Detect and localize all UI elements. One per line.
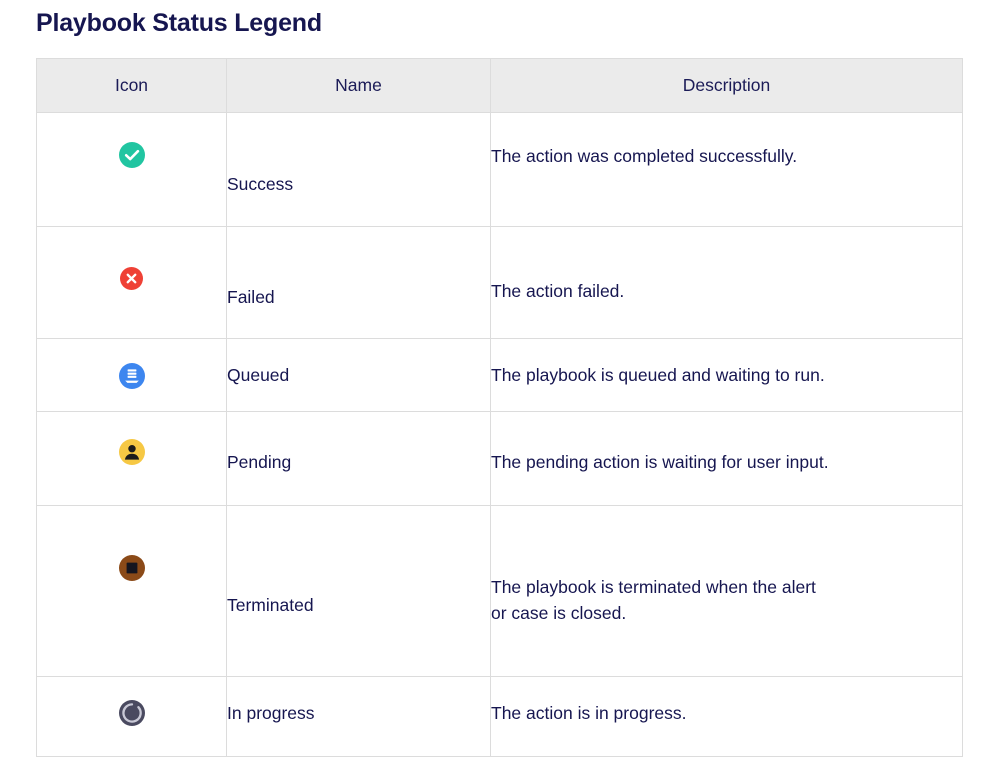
status-icon-cell: [37, 227, 227, 339]
status-icon-cell: [37, 677, 227, 757]
status-description: The action failed.: [491, 227, 963, 339]
status-name: Pending: [227, 412, 491, 506]
table-row: Queued The playbook is queued and waitin…: [37, 339, 963, 412]
terminated-stop-icon: [119, 555, 145, 581]
status-description: The action was completed successfully.: [491, 113, 963, 227]
status-icon-cell: [37, 113, 227, 227]
status-description-line-2: or case is closed.: [491, 600, 962, 626]
success-check-icon: [119, 142, 145, 168]
status-name: Failed: [227, 227, 491, 339]
playbook-status-legend-page: Playbook Status Legend Icon Name Descrip…: [0, 0, 1004, 656]
status-name: Success: [227, 113, 491, 227]
column-header-name: Name: [227, 59, 491, 113]
table-row: Success The action was completed success…: [37, 113, 963, 227]
table-body: Success The action was completed success…: [37, 113, 963, 757]
failed-cross-icon: [120, 267, 143, 290]
table-row: Failed The action failed.: [37, 227, 963, 339]
status-description: The action is in progress.: [491, 677, 963, 757]
column-header-description: Description: [491, 59, 963, 113]
table-header: Icon Name Description: [37, 59, 963, 113]
status-name: Queued: [227, 339, 491, 412]
status-description-line: The action failed.: [491, 278, 962, 304]
column-header-icon: Icon: [37, 59, 227, 113]
status-description: The playbook is queued and waiting to ru…: [491, 339, 963, 412]
status-name: Terminated: [227, 506, 491, 677]
status-description-line: The pending action is waiting for user i…: [491, 449, 962, 475]
status-name: In progress: [227, 677, 491, 757]
status-icon-cell: [37, 506, 227, 677]
page-title: Playbook Status Legend: [36, 7, 322, 39]
status-description-line: The playbook is queued and waiting to ru…: [491, 362, 962, 388]
status-description: The playbook is terminated when the aler…: [491, 506, 963, 677]
status-description-line: The playbook is terminated when the aler…: [491, 574, 962, 600]
table-row: In progress The action is in progress.: [37, 677, 963, 757]
table-row: Terminated The playbook is terminated wh…: [37, 506, 963, 677]
status-icon-cell: [37, 339, 227, 412]
table-row: Pending The pending action is waiting fo…: [37, 412, 963, 506]
status-description-line: The action is in progress.: [491, 700, 962, 726]
status-icon-cell: [37, 412, 227, 506]
status-legend-table: Icon Name Description Success The action…: [36, 58, 963, 757]
status-description-line: The action was completed successfully.: [491, 143, 962, 169]
status-description: The pending action is waiting for user i…: [491, 412, 963, 506]
table-header-row: Icon Name Description: [37, 59, 963, 113]
pending-user-icon: [119, 439, 145, 465]
queued-stack-icon: [119, 363, 145, 389]
in-progress-spinner-icon: [119, 700, 145, 726]
